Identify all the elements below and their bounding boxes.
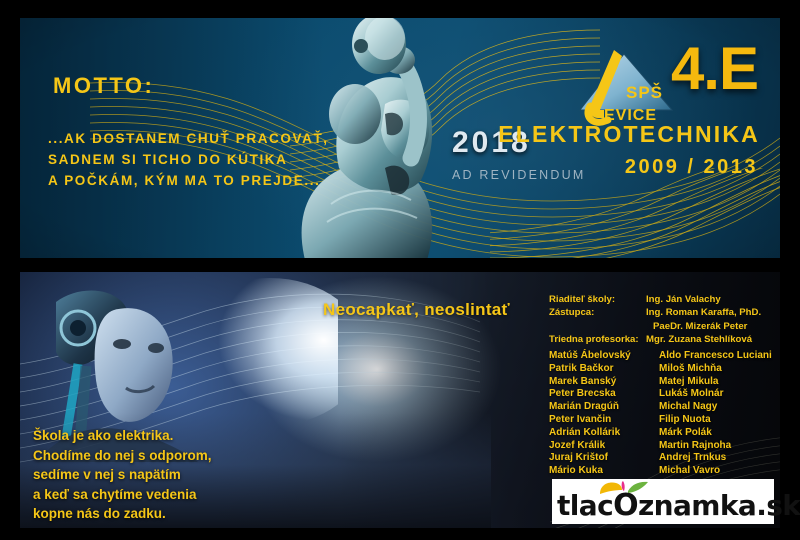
student-name: Michal Vavro — [659, 465, 772, 478]
student-name: Peter Ivančin — [549, 414, 659, 427]
staff-person: Ing. Ján Valachy — [646, 293, 721, 306]
student-name: Peter Brecska — [549, 388, 659, 401]
brand-logo[interactable]: tlacOznamka.sk — [552, 479, 774, 524]
staff-role: Triedna profesorka: — [549, 333, 646, 346]
student-name: Marián Dragúň — [549, 401, 659, 414]
department-name: ELEKTROTECHNIKA — [498, 121, 760, 148]
poem-line-5: kopne nás do zadku. — [33, 504, 212, 524]
department-years: 2009 / 2013 — [625, 156, 758, 179]
class-label: 4.E — [671, 40, 758, 98]
student-name: Jozef Králik — [549, 440, 659, 453]
poem-block: Škola je ako elektrika. Chodíme do nej s… — [33, 426, 212, 524]
student-name: Aldo Francesco Luciani — [659, 350, 772, 363]
motto-line-1: ...AK DOSTANEM CHUŤ PRACOVAŤ, — [48, 128, 329, 149]
student-name: Matej Mikula — [659, 376, 772, 389]
staff-row: Triedna profesorka: Mgr. Zuzana Stehlíko… — [549, 333, 761, 346]
logo-sps-text: SPŠ — [626, 83, 663, 102]
brand-text-part1: tlac — [557, 489, 613, 522]
staff-person: PaeDr. Mizerák Peter — [646, 320, 747, 333]
staff-row: Zástupca: Ing. Roman Karaffa, PhD. — [549, 306, 761, 319]
poem-line-1: Škola je ako elektrika. — [33, 426, 212, 446]
staff-role — [549, 320, 646, 333]
banner-subtitle: AD REVIDENDUM — [452, 168, 585, 182]
staff-list: Riaditeľ školy: Ing. Ján Valachy Zástupc… — [549, 293, 761, 346]
staff-role: Riaditeľ školy: — [549, 293, 646, 306]
brand-text: tlacOznamka.sk — [557, 488, 800, 523]
brand-text-part2: O — [613, 488, 638, 523]
student-name: Patrik Bačkor — [549, 363, 659, 376]
motto-line-2: SADNEM SI TICHO DO KÚTIKA — [48, 149, 329, 170]
poster-root: MOTTO: ...AK DOSTANEM CHUŤ PRACOVAŤ, SAD… — [0, 0, 800, 540]
student-name: Juraj Krištof — [549, 452, 659, 465]
motto-line-3: A POČKÁM, KÝM MA TO PREJDE... — [48, 170, 329, 191]
top-banner: MOTTO: ...AK DOSTANEM CHUŤ PRACOVAŤ, SAD… — [20, 18, 780, 258]
student-name: Márk Polák — [659, 427, 772, 440]
student-name: Michal Nagy — [659, 401, 772, 414]
staff-row: PaeDr. Mizerák Peter — [549, 320, 761, 333]
student-name: Adrián Kollárik — [549, 427, 659, 440]
student-name: Andrej Trnkus — [659, 452, 772, 465]
student-name: Filip Nuota — [659, 414, 772, 427]
student-name: Marek Banský — [549, 376, 659, 389]
motto-title: MOTTO: — [53, 73, 154, 99]
student-names: Matúš Ábelovský Patrik Bačkor Marek Bans… — [549, 350, 772, 478]
student-name: Matúš Ábelovský — [549, 350, 659, 363]
poem-line-4: a keď sa chytíme vedenia — [33, 485, 212, 505]
brand-text-part3: znamka.sk — [638, 489, 800, 522]
student-name: Mário Kuka — [549, 465, 659, 478]
student-column-1: Matúš Ábelovský Patrik Bačkor Marek Bans… — [549, 350, 659, 478]
staff-person: Mgr. Zuzana Stehlíková — [646, 333, 752, 346]
student-name: Lukáš Molnár — [659, 388, 772, 401]
staff-role: Zástupca: — [549, 306, 646, 319]
student-name: Martin Rajnoha — [659, 440, 772, 453]
staff-row: Riaditeľ školy: Ing. Ján Valachy — [549, 293, 761, 306]
poem-line-2: Chodíme do nej s odporom, — [33, 446, 212, 466]
staff-person: Ing. Roman Karaffa, PhD. — [646, 306, 761, 319]
student-column-2: Aldo Francesco Luciani Miloš Michňa Mate… — [659, 350, 772, 478]
student-name: Miloš Michňa — [659, 363, 772, 376]
poem-line-3: sedíme v nej s napätím — [33, 465, 212, 485]
headline: Neocapkať, neoslintať — [323, 300, 510, 320]
motto-body: ...AK DOSTANEM CHUŤ PRACOVAŤ, SADNEM SI … — [48, 128, 329, 191]
